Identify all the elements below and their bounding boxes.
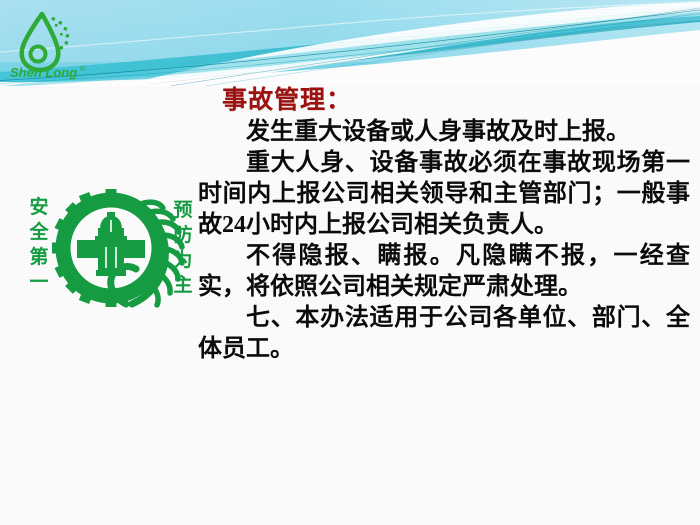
svg-text:一: 一 bbox=[29, 271, 48, 293]
svg-text:全: 全 bbox=[28, 220, 49, 243]
paragraph-4: 七、本办法适用于公司各单位、部门、全体员工。 bbox=[198, 303, 690, 365]
paragraph-2: 重大人身、设备事故必须在事故现场第一时间内上报公司相关领导和主管部门；一般事故2… bbox=[198, 148, 690, 241]
paragraph-3: 不得隐报、瞒报。凡隐瞒不报，一经查实，将依照公司相关规定严肃处理。 bbox=[198, 241, 690, 303]
slide-text-content: 事故管理： 发生重大设备或人身事故及时上报。 重大人身、设备事故必须在事故现场第… bbox=[198, 86, 690, 365]
presentation-slide: Shen Long ® 安 全 第 一 预 防 为 主 bbox=[0, 0, 700, 525]
emblem-left-text: 安 全 第 一 bbox=[28, 195, 49, 293]
logo-registered-mark: ® bbox=[80, 65, 86, 73]
svg-text:安: 安 bbox=[29, 195, 48, 218]
logo-wordmark: Shen Long bbox=[10, 65, 77, 80]
wave-banner bbox=[0, 0, 700, 86]
shen-long-logo: Shen Long ® bbox=[8, 8, 92, 80]
safety-first-emblem: 安 全 第 一 预 防 为 主 bbox=[22, 186, 200, 312]
page-title: 事故管理： bbox=[222, 86, 690, 116]
paragraph-1: 发生重大设备或人身事故及时上报。 bbox=[198, 117, 690, 148]
svg-text:第: 第 bbox=[29, 245, 48, 268]
